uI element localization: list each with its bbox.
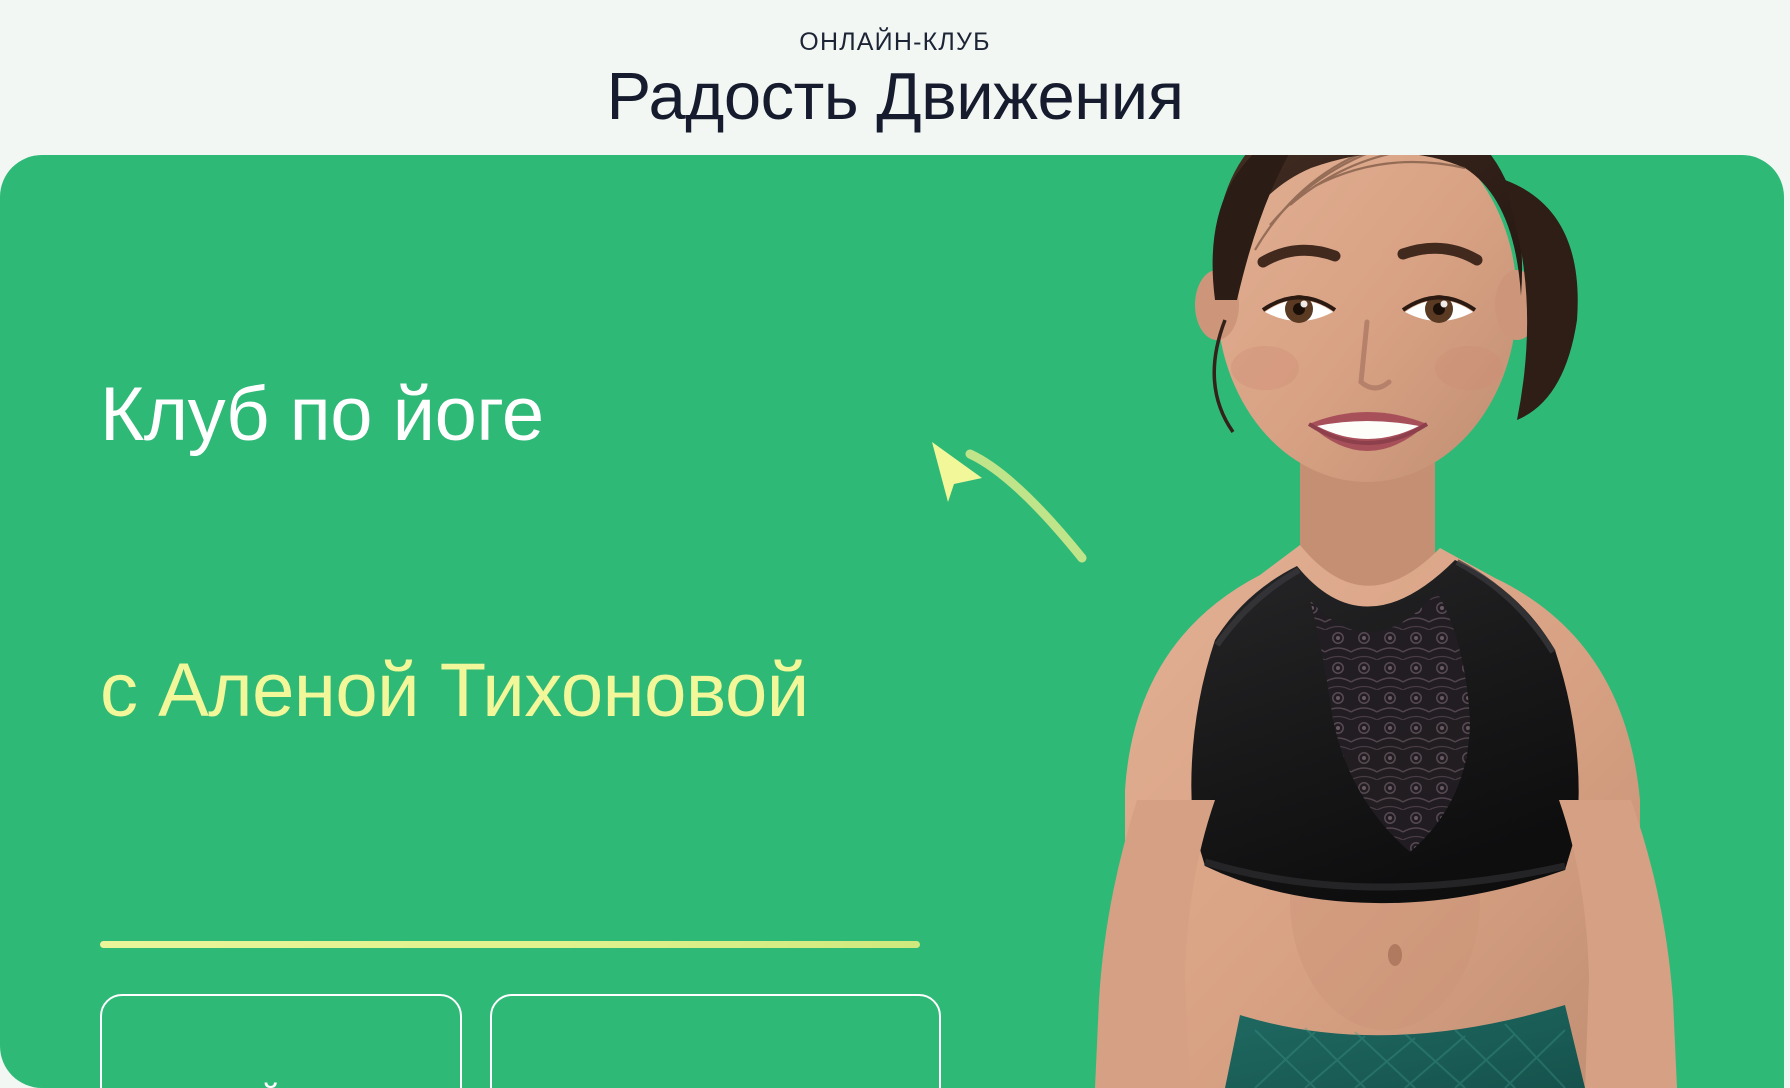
eyebrow-label: ОНЛАЙН-КЛУБ [0, 28, 1790, 57]
hero-content: Клуб по йоге с Аленой Тихоновой онлайн-в… [100, 185, 1040, 1088]
curved-arrow-icon [910, 440, 1120, 570]
headline-line-1: Клуб по йоге [100, 369, 1040, 461]
feature-chip-row: онлайн-встречи каждую неделю поддержка э… [100, 994, 1040, 1088]
feature-chip-online-meetings: онлайн-встречи каждую неделю [100, 994, 462, 1088]
headline-underline [100, 941, 920, 948]
hero-headline: Клуб по йоге с Аленой Тихоновой [100, 185, 1040, 921]
headline-line-2: с Аленой Тихоновой [100, 645, 1040, 737]
header-strip: ОНЛАЙН-КЛУБ Радость Движения [0, 0, 1790, 155]
feature-chip-line-1: онлайн-встречи [185, 1078, 434, 1088]
feature-chip-expert-support: поддержка экспертов в закрытом чате [490, 994, 941, 1088]
club-title: Радость Движения [0, 57, 1790, 137]
feature-chip-line-1: поддержка экспертов [575, 1078, 913, 1088]
